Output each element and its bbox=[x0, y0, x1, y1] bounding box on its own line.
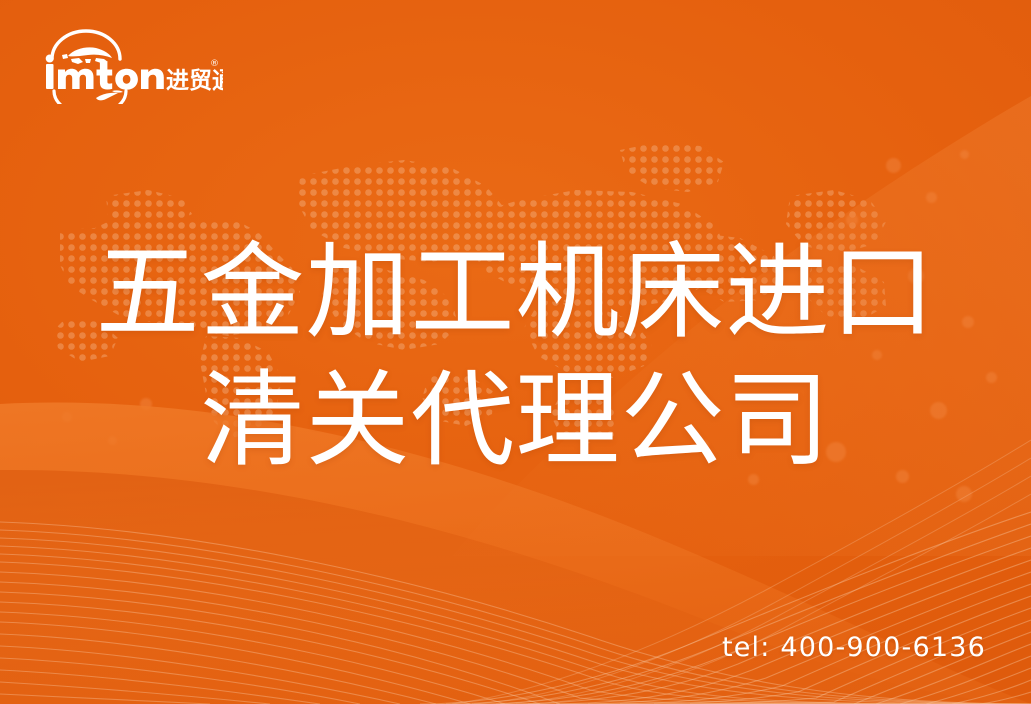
trademark-icon: ® bbox=[210, 59, 219, 69]
bokeh-dot bbox=[846, 214, 858, 226]
globe-arc-icon bbox=[52, 31, 120, 64]
bird-swoosh-icon bbox=[54, 90, 126, 104]
brand-logo[interactable]: 进贸通 ® bbox=[38, 28, 223, 104]
logo-chinese-name: 进贸通 bbox=[166, 68, 223, 94]
page-title: 五金加工机床进口 清关代理公司 bbox=[0, 228, 1031, 484]
headline-line-2: 清关代理公司 bbox=[0, 356, 1031, 484]
headline-line-1: 五金加工机床进口 bbox=[0, 228, 1031, 356]
bokeh-dot bbox=[926, 192, 937, 203]
bokeh-dot bbox=[956, 486, 972, 502]
bokeh-dot bbox=[960, 150, 969, 159]
contact-telephone[interactable]: tel: 400-900-6136 bbox=[722, 632, 986, 663]
poster-banner: 进贸通 ® 五金加工机床进口 清关代理公司 tel: 400-900-6136 bbox=[0, 0, 1031, 704]
bokeh-dot bbox=[886, 158, 901, 173]
